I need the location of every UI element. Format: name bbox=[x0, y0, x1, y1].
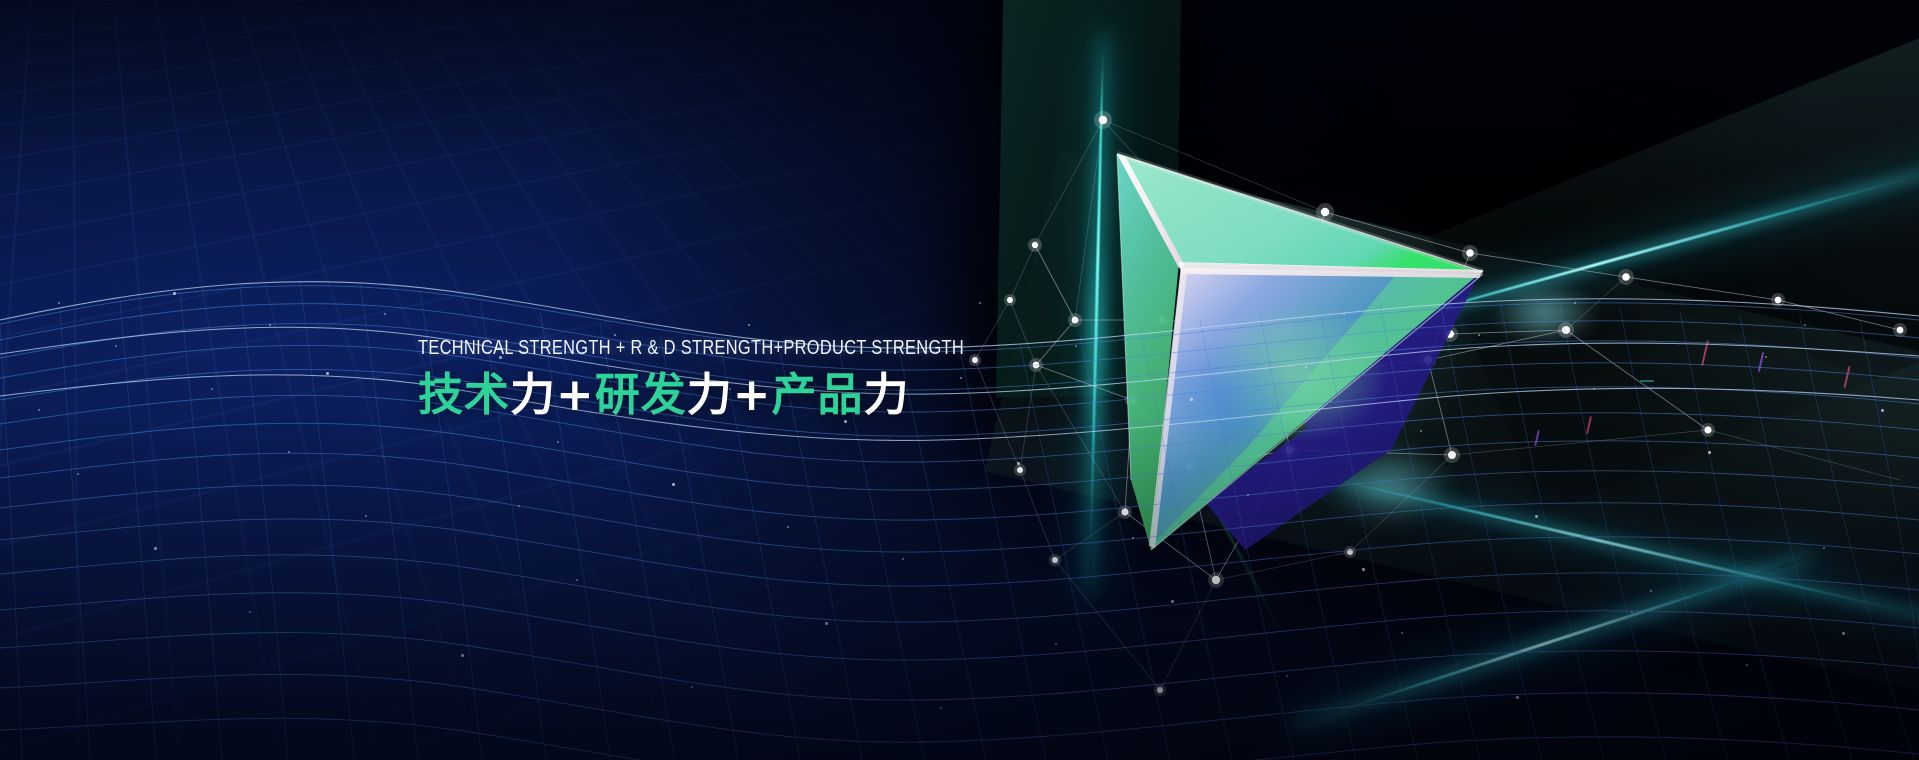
headline-segment-5: 产品 bbox=[772, 368, 864, 421]
headline-block: TECHNICAL STRENGTH + R & D STRENGTH+PROD… bbox=[418, 336, 1101, 421]
hero-banner: TECHNICAL STRENGTH + R & D STRENGTH+PROD… bbox=[0, 0, 1919, 760]
headline-segment-4: 力 bbox=[687, 368, 733, 421]
headline-plus-2: + bbox=[733, 368, 772, 421]
page-title: 技术力+研发力+产品力 bbox=[418, 369, 1101, 421]
eyebrow-text: TECHNICAL STRENGTH + R & D STRENGTH+PROD… bbox=[418, 336, 964, 360]
headline-segment-1: 技术 bbox=[418, 368, 510, 421]
headline-segment-3: 研发 bbox=[595, 368, 687, 421]
headline-segment-2: 力 bbox=[510, 368, 556, 421]
headline-plus-1: + bbox=[556, 368, 595, 421]
headline-segment-6: 力 bbox=[864, 368, 910, 421]
